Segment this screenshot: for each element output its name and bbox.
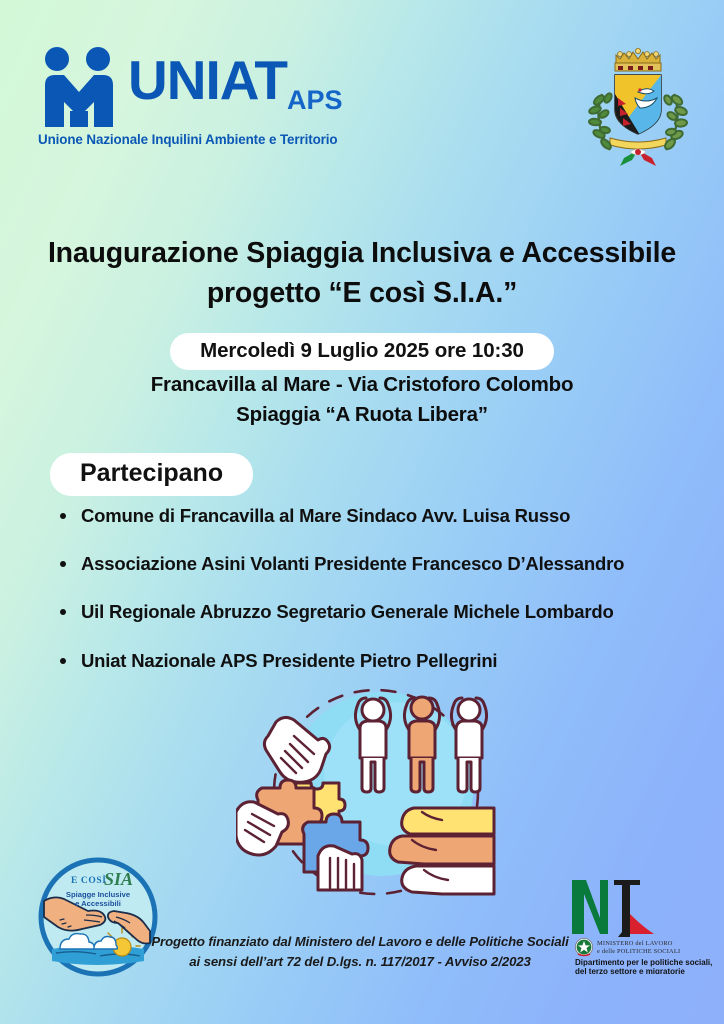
title-line-1: Inaugurazione Spiaggia Inclusiva e Acces… xyxy=(0,233,724,273)
list-item-label: Associazione Asini Volanti Presidente Fr… xyxy=(81,553,624,574)
sia-title-big: SIA xyxy=(104,869,133,889)
event-location-line-2: Spiaggia “A Ruota Libera” xyxy=(0,400,724,430)
ministry-monogram-l xyxy=(614,880,654,937)
teamwork-puzzle-hands-illustration xyxy=(236,688,516,900)
funding-note-line-1: Progetto finanziato dal Ministero del La… xyxy=(120,932,600,952)
event-location-line-1: Francavilla al Mare - Via Cristoforo Col… xyxy=(0,370,724,400)
bullet-icon xyxy=(60,513,66,519)
funding-note: Progetto finanziato dal Ministero del La… xyxy=(120,932,600,973)
poster-canvas: UNIAT APS Unione Nazionale Inquilini Amb… xyxy=(0,0,724,1024)
sia-subtitle-line-1: Spiagge Inclusive xyxy=(66,890,130,899)
event-date-row: Mercoledì 9 Luglio 2025 ore 10:30 xyxy=(0,333,724,370)
ministry-monogram-m xyxy=(572,880,608,934)
list-item-label: Comune di Francavilla al Mare Sindaco Av… xyxy=(81,505,570,526)
sia-title-small: E COSÌ xyxy=(71,874,107,886)
list-item: Comune di Francavilla al Mare Sindaco Av… xyxy=(56,505,696,527)
list-item-label: Uniat Nazionale APS Presidente Pietro Pe… xyxy=(81,650,497,671)
bullet-icon xyxy=(60,609,66,615)
bullet-icon xyxy=(60,561,66,567)
event-date-badge: Mercoledì 9 Luglio 2025 ore 10:30 xyxy=(170,333,554,370)
title-line-2: progetto “E così S.I.A.” xyxy=(0,273,724,313)
page-title: Inaugurazione Spiaggia Inclusiva e Acces… xyxy=(0,233,724,314)
list-item: Uniat Nazionale APS Presidente Pietro Pe… xyxy=(56,650,696,672)
bullet-icon xyxy=(60,658,66,664)
list-item-label: Uil Regionale Abruzzo Segretario General… xyxy=(81,601,614,622)
participants-heading-row: Partecipano xyxy=(50,453,253,496)
ministry-name-line-2: e delle POLITICHE SOCIALI xyxy=(597,948,680,955)
list-item: Associazione Asini Volanti Presidente Fr… xyxy=(56,553,696,575)
sia-subtitle-line-2: e Accessibili xyxy=(75,899,121,908)
comune-coat-of-arms-icon xyxy=(580,42,696,168)
uniat-wordmark: UNIAT xyxy=(128,53,287,108)
ministry-name-line-1: MINISTERO del LAVORO xyxy=(597,940,673,947)
funding-note-line-2: ai sensi dell’art 72 del D.lgs. n. 117/2… xyxy=(120,952,600,972)
uniat-aps-suffix: APS xyxy=(287,87,343,114)
uniat-logo: UNIAT APS Unione Nazionale Inquilini Amb… xyxy=(36,47,326,157)
event-location: Francavilla al Mare - Via Cristoforo Col… xyxy=(0,370,724,430)
two-people-house-icon xyxy=(36,47,122,127)
participants-heading-badge: Partecipano xyxy=(50,453,253,496)
uniat-tagline: Unione Nazionale Inquilini Ambiente e Te… xyxy=(38,132,338,147)
list-item: Uil Regionale Abruzzo Segretario General… xyxy=(56,601,696,623)
participants-list: Comune di Francavilla al Mare Sindaco Av… xyxy=(56,505,696,698)
